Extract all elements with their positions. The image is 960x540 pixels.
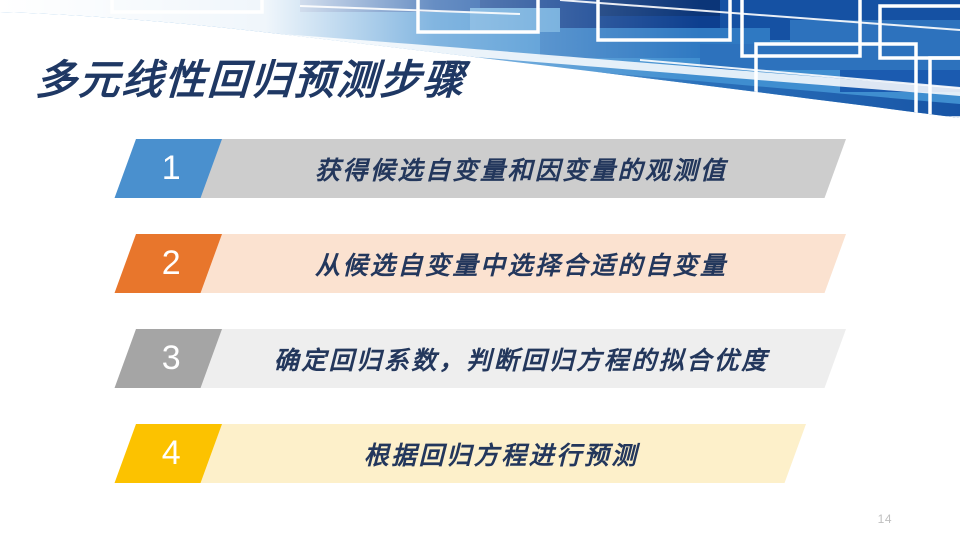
slide-canvas: 多元线性回归预测步骤 获得候选自变量和因变量的观测值 1 从候选自变量中选择合适… [0, 0, 960, 540]
step-row[interactable]: 获得候选自变量和因变量的观测值 1 [0, 139, 960, 198]
step-number-4: 4 [125, 424, 211, 483]
step-body-2: 从候选自变量中选择合适的自变量 [197, 234, 846, 293]
step-badge-2[interactable]: 2 [115, 234, 222, 293]
step-row[interactable]: 从候选自变量中选择合适的自变量 2 [0, 234, 960, 293]
step-number-2: 2 [125, 234, 211, 293]
step-number-3: 3 [125, 329, 211, 388]
steps-list: 获得候选自变量和因变量的观测值 1 从候选自变量中选择合适的自变量 2 确定回归… [0, 139, 960, 483]
page-number: 14 [878, 512, 892, 526]
step-label-4: 根据回归方程进行预测 [364, 436, 639, 472]
step-body-3: 确定回归系数，判断回归方程的拟合优度 [197, 329, 846, 388]
page-title: 多元线性回归预测步骤 [34, 46, 467, 106]
step-label-2: 从候选自变量中选择合适的自变量 [315, 246, 728, 282]
step-body-4: 根据回归方程进行预测 [197, 424, 806, 483]
step-number-1: 1 [125, 139, 211, 198]
step-row[interactable]: 确定回归系数，判断回归方程的拟合优度 3 [0, 329, 960, 388]
step-badge-1[interactable]: 1 [115, 139, 222, 198]
step-label-3: 确定回归系数，判断回归方程的拟合优度 [274, 341, 769, 377]
step-label-1: 获得候选自变量和因变量的观测值 [315, 151, 728, 187]
step-body-1: 获得候选自变量和因变量的观测值 [197, 139, 846, 198]
step-badge-3[interactable]: 3 [115, 329, 222, 388]
step-row[interactable]: 根据回归方程进行预测 4 [0, 424, 960, 483]
step-badge-4[interactable]: 4 [115, 424, 222, 483]
